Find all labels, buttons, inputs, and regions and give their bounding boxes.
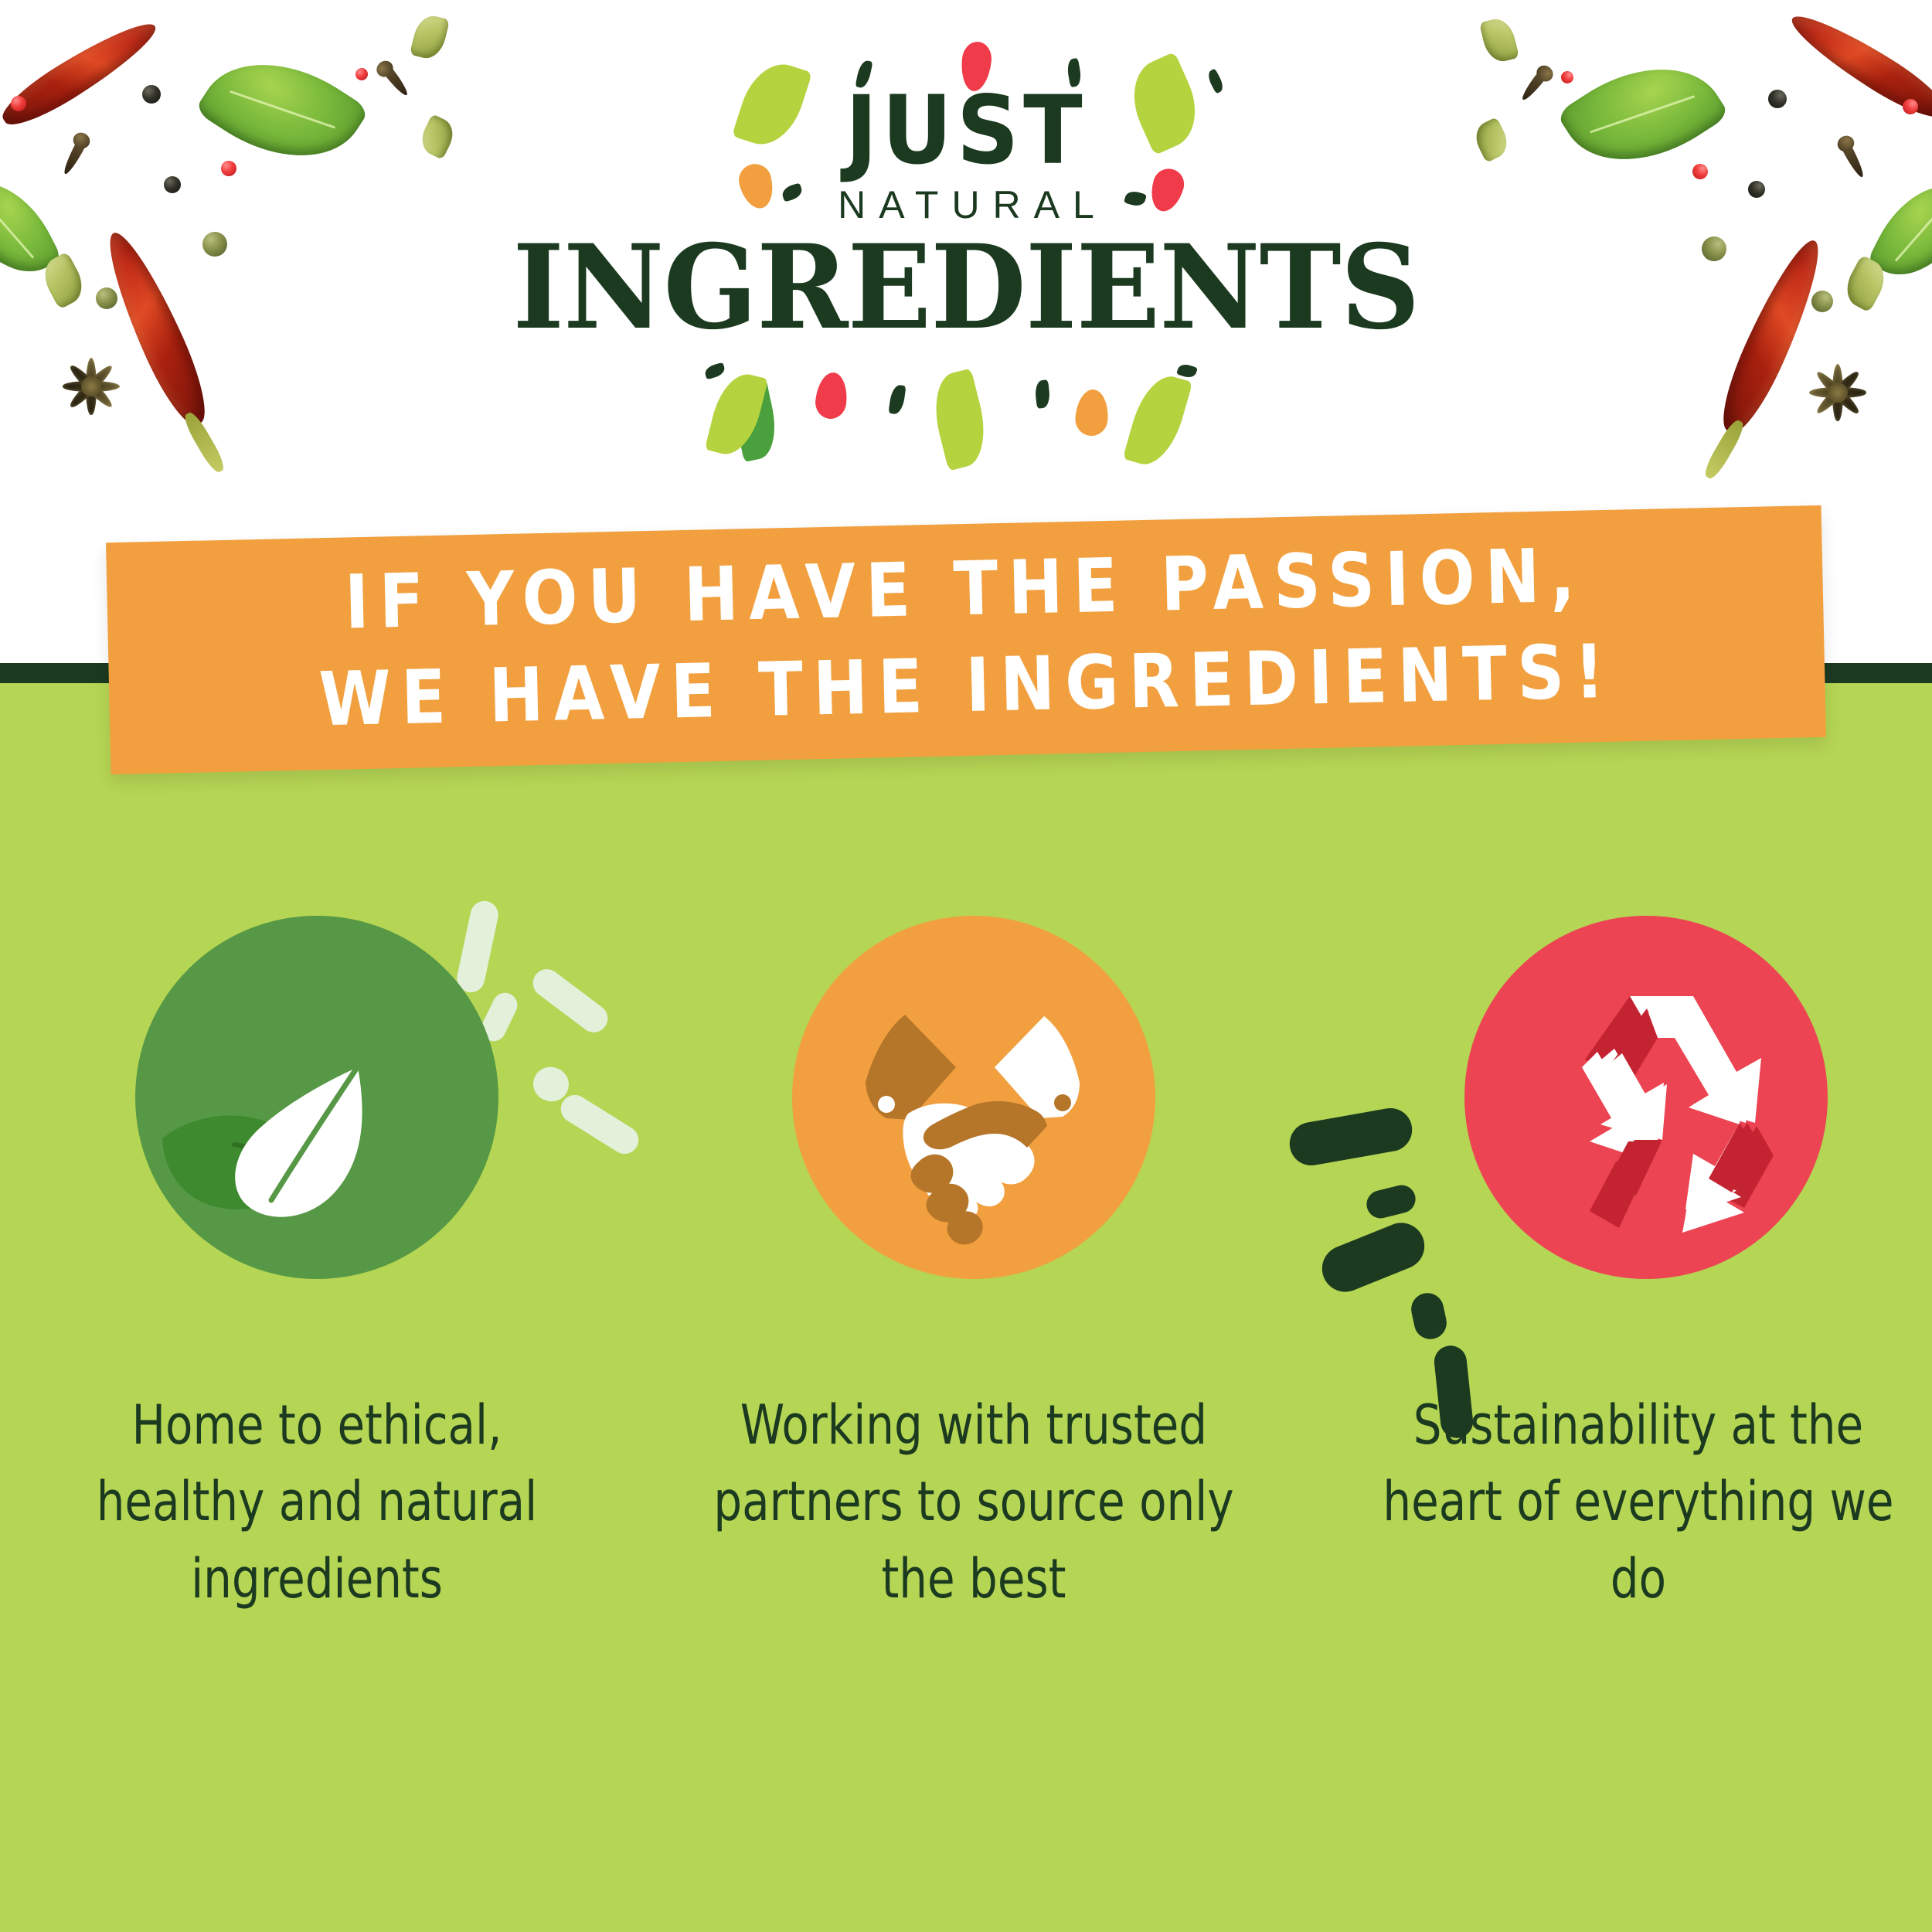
feature-caption: Home to ethical, healthy and natural ing…: [46, 1387, 587, 1617]
logo-word-natural: NATURAL: [0, 185, 1932, 224]
feature-caption: Working with trusted partners to source …: [703, 1387, 1243, 1617]
feature-circle-green: [135, 916, 498, 1279]
feature-caption: Sustainability at the heart of everythin…: [1368, 1387, 1908, 1617]
brand-logo: JUST NATURAL INGREDIENTS: [0, 85, 1932, 347]
poster-canvas: JUST NATURAL INGREDIENTS IF YOU HAVE THE…: [0, 0, 1932, 1932]
features-row: Home to ethical, healthy and natural ing…: [0, 916, 1932, 1611]
pink-peppercorn-icon: [1561, 71, 1573, 83]
feature-circle-red: [1464, 916, 1828, 1279]
headline-banner: IF YOU HAVE THE PASSION, WE HAVE THE ING…: [106, 505, 1826, 774]
feature-circle-orange: [792, 916, 1155, 1279]
handshake-icon: [792, 916, 1155, 1279]
recycle-icon: [1464, 916, 1828, 1279]
cardamom-pod-icon: [1479, 15, 1519, 65]
logo-word-just: JUST: [77, 85, 1855, 178]
leaf-icon: [135, 916, 498, 1279]
logo-word-ingredients: INGREDIENTS: [49, 229, 1884, 347]
